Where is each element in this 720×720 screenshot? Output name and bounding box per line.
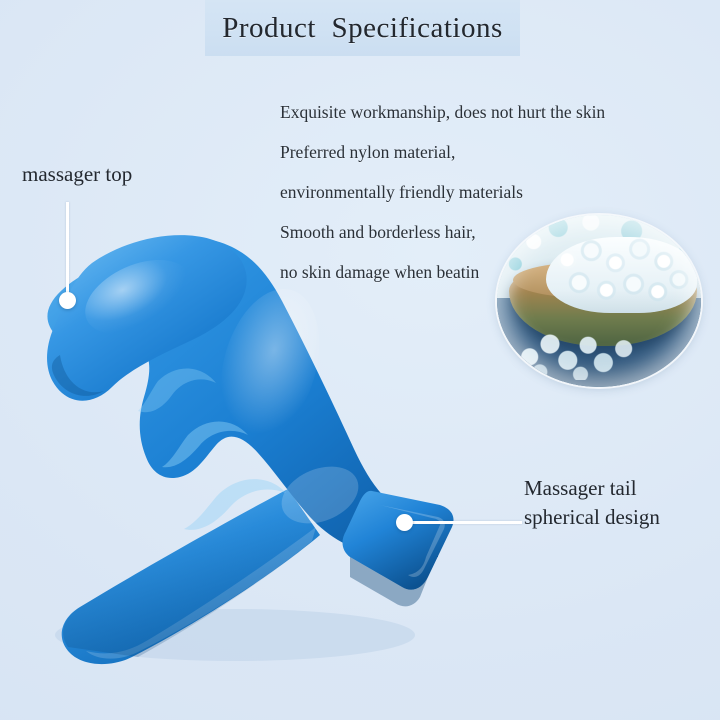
- callout-line-top: [66, 202, 69, 300]
- callout-tail-line-2: spherical design: [524, 503, 660, 532]
- callout-line-tail: [412, 521, 522, 524]
- product-specifications-page: Product Specifications Exquisite workman…: [0, 0, 720, 720]
- photo-vignette: [497, 215, 701, 387]
- callout-tail-line-1: Massager tail: [524, 474, 660, 503]
- spec-line: Preferred nylon material,: [280, 132, 610, 172]
- callout-dot-tail: [396, 514, 413, 531]
- spec-line: Exquisite workmanship, does not hurt the…: [280, 92, 610, 132]
- callout-label-massager-top: massager top: [22, 162, 132, 187]
- callout-label-massager-tail: Massager tail spherical design: [524, 474, 660, 532]
- callout-dot-top: [59, 292, 76, 309]
- nylon-pellets-photo: [497, 215, 701, 387]
- blue-hammer-massager: [20, 205, 470, 675]
- photo-scene: [497, 215, 701, 387]
- page-title: Product Specifications: [205, 0, 520, 56]
